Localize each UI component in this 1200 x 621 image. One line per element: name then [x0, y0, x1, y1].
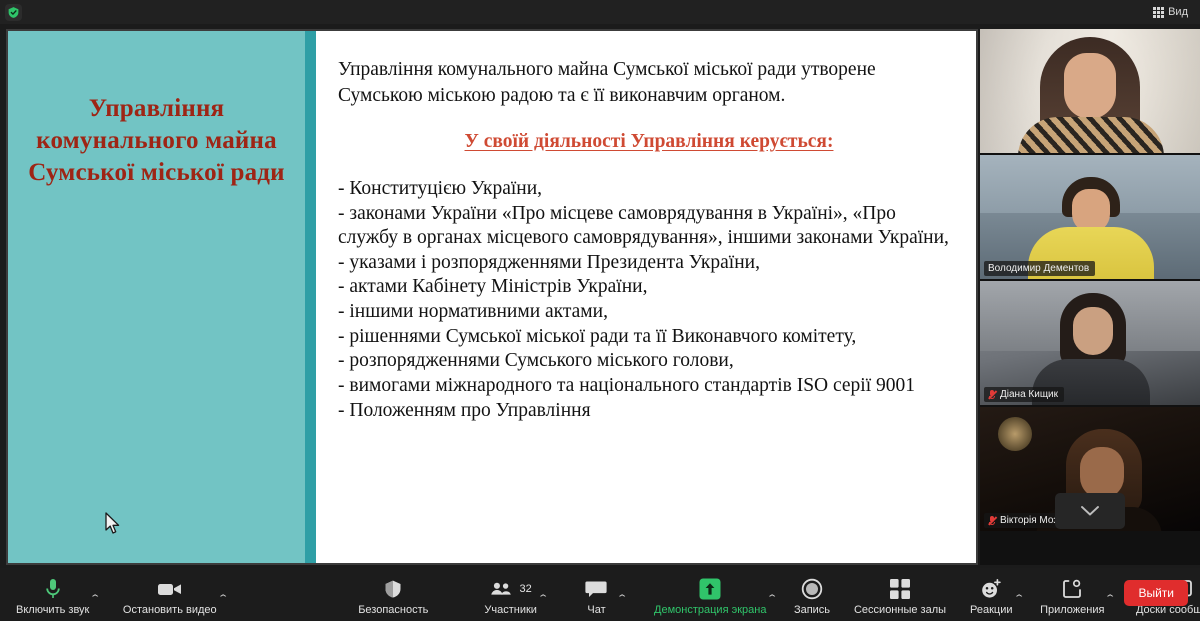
grid-icon: [1153, 7, 1164, 18]
record-circle-icon: [801, 577, 823, 601]
share-screen-icon: [698, 577, 722, 601]
leave-meeting-button[interactable]: Выйти: [1124, 580, 1188, 606]
toolbar-video-label: Остановить видео: [123, 604, 217, 616]
slide-title-panel: Управління комунального майна Сумської м…: [8, 31, 305, 563]
shield-icon: [383, 577, 403, 601]
share-options-caret[interactable]: ⌃: [762, 586, 787, 603]
breakout-rooms-icon: [889, 577, 911, 601]
list-item: - рішеннями Сумської міської ради та її …: [338, 325, 960, 350]
slide-title: Управління комунального майна Сумської м…: [23, 93, 291, 189]
video-tile[interactable]: Вікторія Мозгова: [980, 407, 1200, 531]
participant-video-strip: Володимир Дементов Діана Кищик: [980, 29, 1200, 565]
microphone-icon: [45, 577, 61, 601]
shared-screen-slide: Управління комунального майна Сумської м…: [6, 29, 978, 565]
toolbar-record-button[interactable]: Запись: [792, 573, 832, 616]
slide-intro-paragraph: Управління комунального майна Сумської м…: [338, 57, 960, 109]
participant-name-badge: Володимир Дементов: [984, 261, 1095, 276]
slide-bullet-list: - Конституцією України, - законами Украї…: [338, 177, 960, 424]
toolbar-reactions-button[interactable]: Реакции: [970, 573, 1013, 616]
toolbar-audio-label: Включить звук: [16, 604, 89, 616]
slide-body-panel: Управління комунального майна Сумської м…: [321, 31, 976, 563]
reactions-smiley-icon: [980, 577, 1002, 601]
toolbar-breakout-rooms-label: Сессионные залы: [854, 604, 946, 616]
chevron-down-icon: [1080, 505, 1100, 517]
toolbar-record-label: Запись: [794, 604, 830, 616]
slide-divider: [305, 31, 316, 563]
audio-options-caret[interactable]: ⌃: [85, 586, 110, 603]
toolbar-video-button[interactable]: Остановить видео: [123, 573, 217, 616]
apps-icon: [1061, 577, 1083, 601]
video-options-caret[interactable]: ⌃: [212, 586, 237, 603]
toolbar-reactions-label: Реакции: [970, 604, 1013, 616]
camera-icon: [157, 577, 183, 601]
toolbar-share-screen-button[interactable]: Демонстрация экрана: [654, 573, 766, 616]
list-item: - Конституцією України,: [338, 177, 960, 202]
scroll-down-button[interactable]: [1055, 493, 1125, 529]
view-button[interactable]: Вид: [1149, 3, 1192, 21]
participant-name-badge: Діана Кищик: [984, 387, 1064, 402]
video-feed: [980, 29, 1200, 153]
mic-muted-icon: [988, 516, 996, 526]
top-bar: Вид: [0, 0, 1200, 24]
list-item: - Положенням про Управління: [338, 399, 960, 424]
toolbar-participants-button[interactable]: 32 Участники: [484, 573, 537, 616]
toolbar-apps-label: Приложения: [1040, 604, 1104, 616]
chat-bubble-icon: [585, 577, 607, 601]
list-item: - вимогами міжнародного та національного…: [338, 374, 960, 399]
zoom-meeting-window: Вид Управління комунального майна Сумськ…: [0, 0, 1200, 621]
video-tile[interactable]: Діана Кищик: [980, 281, 1200, 405]
participants-count: 32: [520, 583, 532, 595]
people-icon: 32: [490, 577, 532, 601]
chat-options-caret[interactable]: ⌃: [612, 586, 637, 603]
participant-name: Володимир Дементов: [988, 263, 1089, 274]
video-tile[interactable]: Володимир Дементов: [980, 155, 1200, 279]
toolbar-audio-button[interactable]: Включить звук: [16, 573, 89, 616]
list-item: - законами України «Про місцеве самовряд…: [338, 202, 960, 251]
shield-check-icon[interactable]: [5, 4, 22, 21]
toolbar-security-button[interactable]: Безопасность: [358, 573, 428, 616]
slide-heading: У своїй діяльності Управління керується:: [338, 131, 960, 153]
video-tile[interactable]: [980, 29, 1200, 153]
list-item: - актами Кабінету Міністрів України,: [338, 275, 960, 300]
toolbar-share-screen-label: Демонстрация экрана: [654, 604, 766, 616]
apps-options-caret[interactable]: ⌃: [1100, 586, 1125, 603]
toolbar-breakout-rooms-button[interactable]: Сессионные залы: [854, 573, 946, 616]
toolbar-apps-button[interactable]: Приложения: [1040, 573, 1104, 616]
meeting-toolbar: Включить звук ⌃ Остановить видео ⌃: [0, 568, 1200, 621]
mic-muted-icon: [988, 390, 996, 400]
toolbar-chat-label: Чат: [587, 604, 605, 616]
list-item: - іншими нормативними актами,: [338, 300, 960, 325]
toolbar-participants-label: Участники: [484, 604, 537, 616]
toolbar-security-label: Безопасность: [358, 604, 428, 616]
list-item: - розпорядженнями Сумського міського гол…: [338, 349, 960, 374]
list-item: - указами і розпорядженнями Президента У…: [338, 251, 960, 276]
mouse-cursor: [104, 512, 122, 536]
participant-name: Діана Кищик: [1000, 389, 1058, 400]
reactions-options-caret[interactable]: ⌃: [1008, 586, 1033, 603]
participants-options-caret[interactable]: ⌃: [532, 586, 557, 603]
view-label: Вид: [1168, 6, 1188, 18]
